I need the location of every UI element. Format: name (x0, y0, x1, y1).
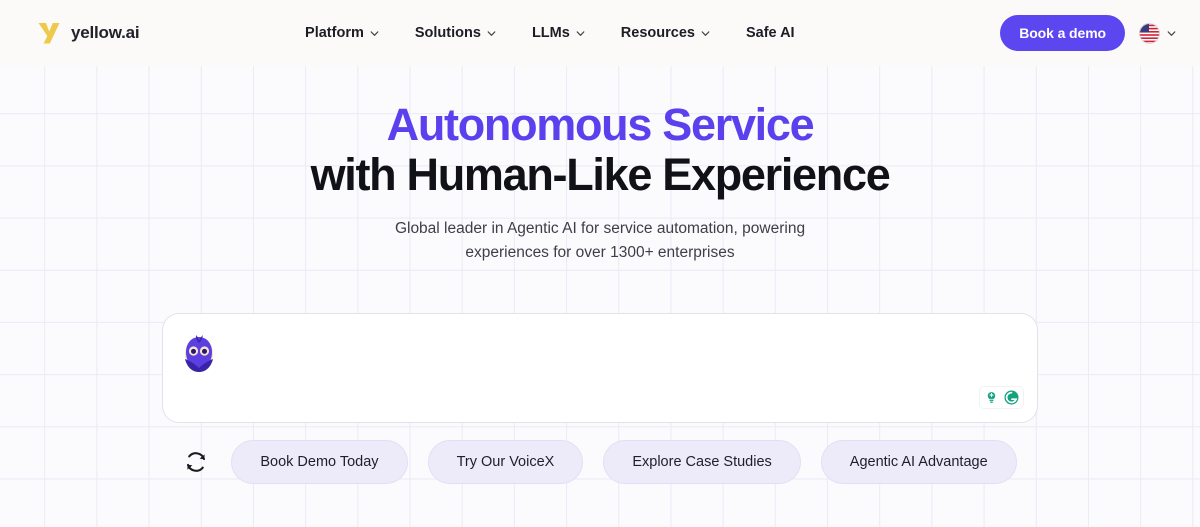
nav-label: Solutions (415, 25, 481, 41)
yellow-ai-bird-avatar (180, 332, 218, 374)
page-root: yellow.ai Platform Solutions LLMs (0, 0, 1200, 527)
suggestion-pill-agentic-ai-advantage[interactable]: Agentic AI Advantage (821, 440, 1017, 484)
hero-subtitle: Global leader in Agentic AI for service … (0, 217, 1200, 265)
nav-item-safe-ai[interactable]: Safe AI (746, 25, 795, 41)
grammarly-suggestion-icon[interactable] (983, 389, 1000, 406)
header-actions: Book a demo (1000, 15, 1176, 51)
grammarly-widget[interactable] (980, 387, 1023, 408)
nav-label: Resources (621, 25, 695, 41)
subtitle-line-2: experiences for over 1300+ enterprises (465, 244, 734, 261)
nav-item-platform[interactable]: Platform (305, 25, 379, 41)
page-title: Autonomous Service with Human-Like Exper… (0, 100, 1200, 201)
chevron-down-icon (701, 29, 710, 38)
refresh-icon (183, 449, 209, 475)
chevron-down-icon (576, 29, 585, 38)
yellow-ai-logo-icon (36, 20, 62, 46)
suggestion-row: Book Demo Today Try Our VoiceX Explore C… (0, 440, 1200, 484)
language-selector[interactable] (1139, 23, 1176, 44)
refresh-suggestions-button[interactable] (183, 449, 209, 475)
us-flag-icon (1139, 23, 1160, 44)
nav-label: Platform (305, 25, 364, 41)
chevron-down-icon (1167, 29, 1176, 38)
nav-item-llms[interactable]: LLMs (532, 25, 585, 41)
nav-label: Safe AI (746, 25, 795, 41)
chevron-down-icon (487, 29, 496, 38)
nav-item-solutions[interactable]: Solutions (415, 25, 496, 41)
suggestion-pill-book-demo-today[interactable]: Book Demo Today (231, 440, 407, 484)
chevron-down-icon (370, 29, 379, 38)
nav-label: LLMs (532, 25, 570, 41)
grammarly-logo-icon[interactable] (1003, 389, 1020, 406)
main-navigation: Platform Solutions LLMs Resources (99, 25, 1000, 41)
headline-rest: with Human-Like Experience (311, 149, 890, 200)
chat-input[interactable] (225, 332, 1005, 372)
hero-section: Autonomous Service with Human-Like Exper… (0, 66, 1200, 265)
suggestion-pill-try-our-voicex[interactable]: Try Our VoiceX (428, 440, 584, 484)
headline-accent: Autonomous Service (387, 99, 814, 150)
subtitle-line-1: Global leader in Agentic AI for service … (395, 220, 805, 237)
book-a-demo-button[interactable]: Book a demo (1000, 15, 1125, 51)
site-header: yellow.ai Platform Solutions LLMs (0, 0, 1200, 66)
suggestion-pill-explore-case-studies[interactable]: Explore Case Studies (603, 440, 800, 484)
nav-item-resources[interactable]: Resources (621, 25, 710, 41)
chat-input-container[interactable] (162, 313, 1038, 423)
